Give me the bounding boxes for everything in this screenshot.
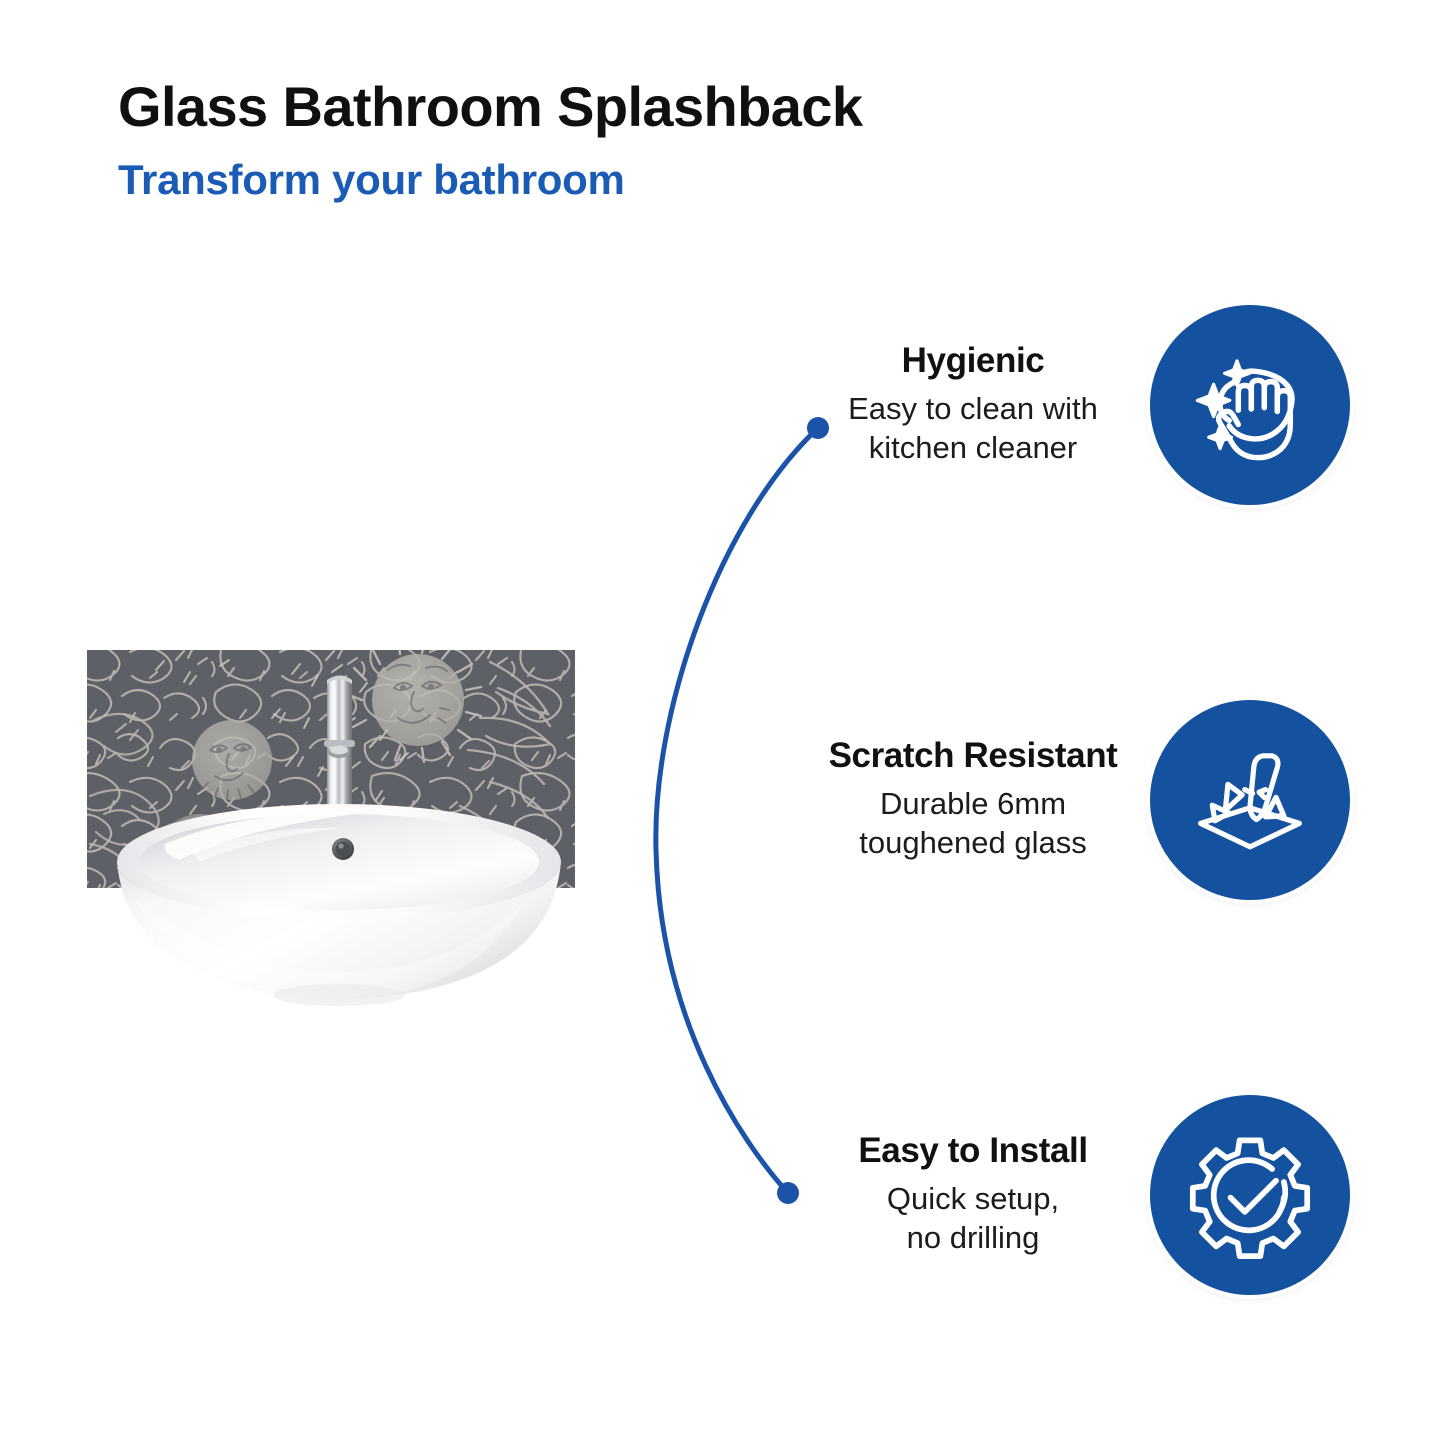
feature-text-block: Hygienic Easy to clean with kitchen clea…: [810, 342, 1150, 467]
feature-icon-badge: [1150, 700, 1350, 900]
feature-easy-to-install: Easy to Install Quick setup, no drilling: [810, 1095, 1370, 1295]
product-photo: [60, 600, 620, 1060]
feature-hygienic: Hygienic Easy to clean with kitchen clea…: [810, 305, 1370, 505]
feature-scratch-resistant: Scratch Resistant Durable 6mm toughened …: [810, 700, 1370, 900]
hand-wiping-cloth-sparkle-icon: [1185, 340, 1315, 470]
gear-with-checkmark-icon: [1185, 1130, 1315, 1260]
connector-dot-bottom: [777, 1182, 799, 1204]
feature-title: Easy to Install: [810, 1132, 1136, 1171]
feature-title: Scratch Resistant: [810, 737, 1136, 776]
feature-description: Durable 6mm toughened glass: [810, 784, 1136, 863]
header: Glass Bathroom Splashback Transform your…: [118, 78, 1118, 203]
feature-icon-badge: [1150, 305, 1350, 505]
feature-description: Easy to clean with kitchen cleaner: [810, 389, 1136, 468]
feature-description: Quick setup, no drilling: [810, 1179, 1136, 1258]
page-title: Glass Bathroom Splashback: [118, 78, 1118, 137]
knife-scratching-surface-icon: [1185, 735, 1315, 865]
feature-text-block: Scratch Resistant Durable 6mm toughened …: [810, 737, 1150, 862]
page-subtitle: Transform your bathroom: [118, 157, 1118, 203]
feature-title: Hygienic: [810, 342, 1136, 381]
ceramic-basin: [117, 804, 561, 1006]
feature-icon-badge: [1150, 1095, 1350, 1295]
feature-text-block: Easy to Install Quick setup, no drilling: [810, 1132, 1150, 1257]
